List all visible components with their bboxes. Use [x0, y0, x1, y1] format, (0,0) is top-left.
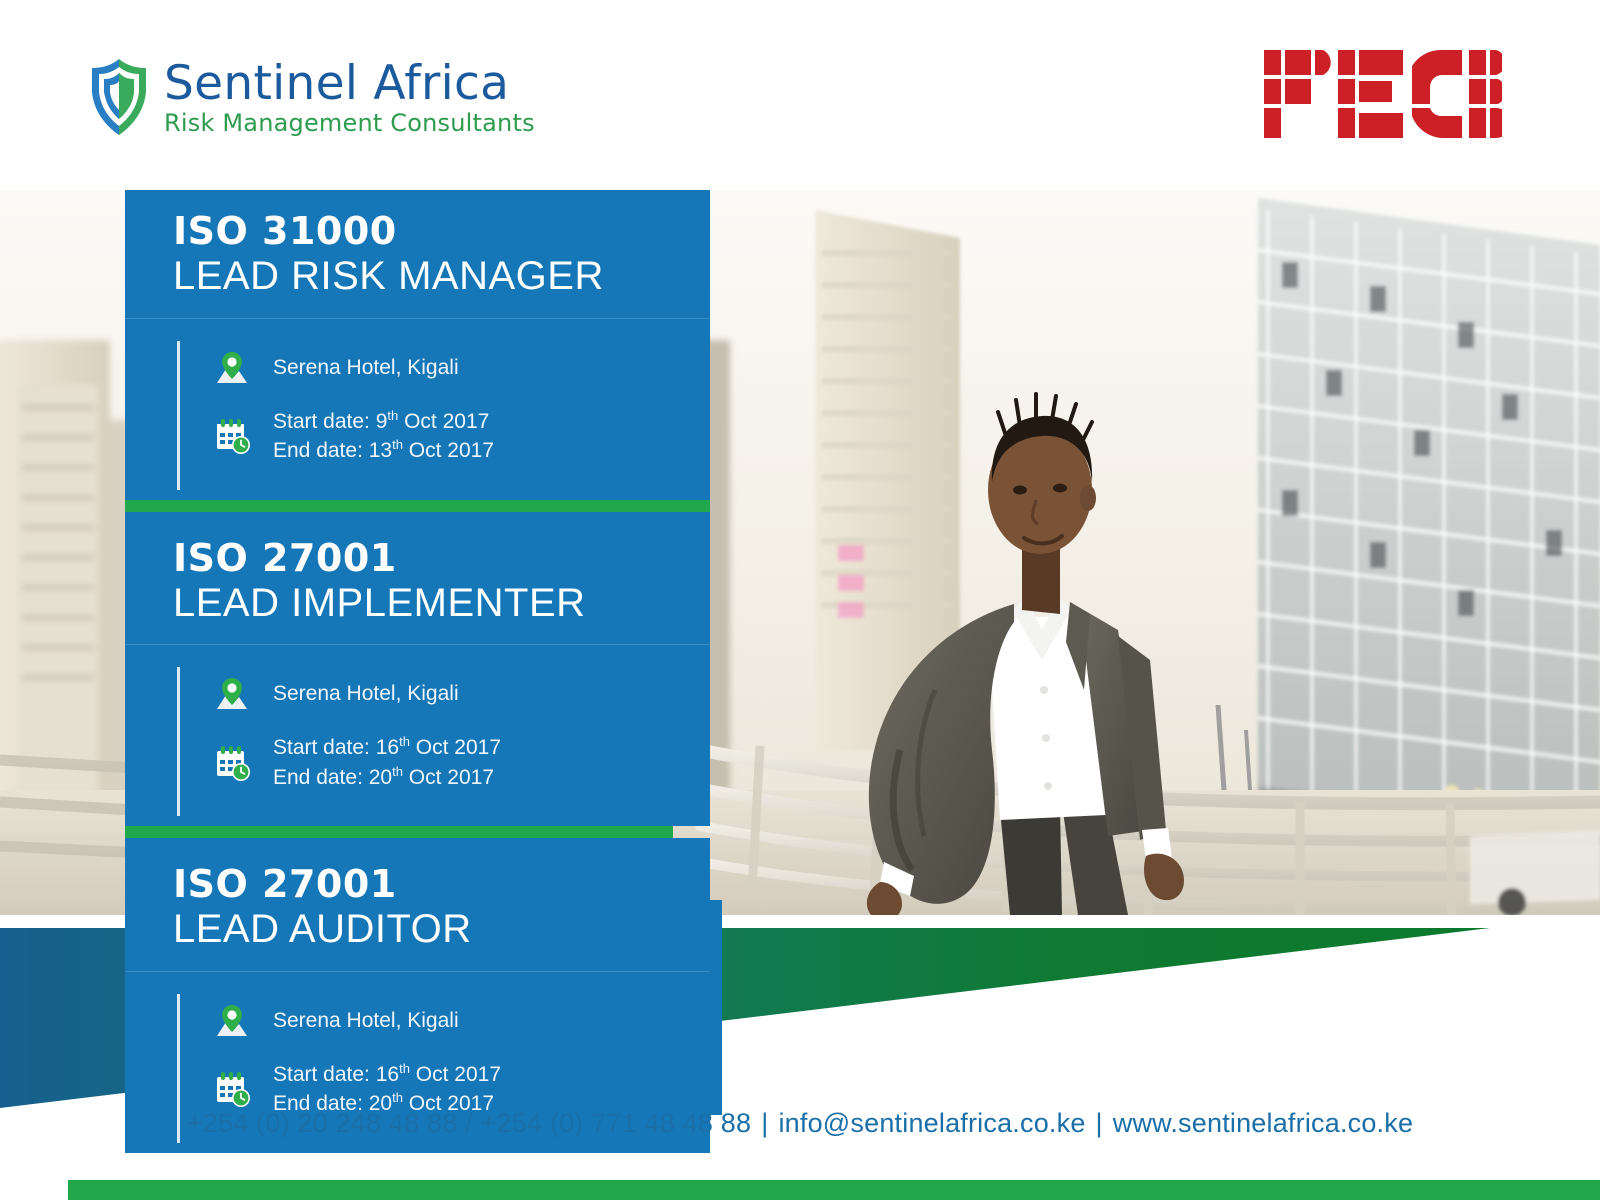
- start-date-label: Start date:: [273, 410, 370, 433]
- course-dates-text: Start date: 9th Oct 2017 End date: 13th …: [273, 407, 494, 466]
- footer-phone-numbers[interactable]: +254 (0) 20 248 48 88 / +254 (0) 771 48 …: [187, 1108, 751, 1139]
- brand-name: Sentinel Africa: [164, 60, 535, 107]
- course-title: LEAD RISK MANAGER: [173, 254, 710, 299]
- footer-divider-1: |: [751, 1108, 778, 1139]
- sentinel-africa-logo: Sentinel Africa Risk Management Consulta…: [88, 58, 535, 136]
- end-date-label: End date:: [273, 766, 363, 789]
- course-card[interactable]: ISO 27001 LEAD IMPLEMENTER Serena Hotel,…: [125, 512, 710, 827]
- footer-contact-bar: +254 (0) 20 248 48 88 / +254 (0) 771 48 …: [0, 1108, 1600, 1139]
- course-location-text: Serena Hotel, Kigali: [273, 354, 459, 382]
- accent-rule: [177, 341, 180, 490]
- calendar-clock-icon: [213, 1070, 251, 1108]
- end-date-rest: Oct 2017: [403, 439, 494, 462]
- start-date-rest: Oct 2017: [410, 736, 501, 759]
- end-date-day: 13: [369, 439, 392, 462]
- start-date-ordinal: th: [399, 1061, 410, 1076]
- footer-email[interactable]: info@sentinelafrica.co.ke: [778, 1108, 1085, 1139]
- course-dates-row: Start date: 16th Oct 2017 End date: 20th…: [125, 733, 710, 792]
- course-card-header: ISO 27001 LEAD IMPLEMENTER: [125, 512, 710, 646]
- map-pin-icon: [213, 349, 251, 387]
- end-date-ordinal: th: [392, 1090, 403, 1105]
- course-location-text: Serena Hotel, Kigali: [273, 680, 459, 708]
- shield-logo-icon: [88, 58, 150, 136]
- course-dates-row: Start date: 9th Oct 2017 End date: 13th …: [125, 407, 710, 466]
- end-date-label: End date:: [273, 439, 363, 462]
- course-title: LEAD IMPLEMENTER: [173, 581, 710, 626]
- course-standard-code: ISO 31000: [173, 211, 710, 252]
- course-standard-code: ISO 27001: [173, 864, 710, 905]
- calendar-clock-icon: [213, 744, 251, 782]
- start-date-label: Start date:: [273, 1063, 370, 1086]
- bottom-green-bar: [68, 1180, 1600, 1200]
- start-date-rest: Oct 2017: [398, 410, 489, 433]
- start-date-day: 9: [376, 410, 388, 433]
- course-cards-list: ISO 31000 LEAD RISK MANAGER Serena Hotel…: [125, 185, 710, 1153]
- card-separator-green: [125, 826, 673, 838]
- footer-website[interactable]: www.sentinelafrica.co.ke: [1113, 1108, 1413, 1139]
- course-location-row: Serena Hotel, Kigali: [125, 675, 710, 713]
- course-location-row: Serena Hotel, Kigali: [125, 1002, 710, 1040]
- calendar-clock-icon: [213, 417, 251, 455]
- start-date-ordinal: th: [399, 734, 410, 749]
- course-title: LEAD AUDITOR: [173, 907, 710, 952]
- course-card[interactable]: ISO 31000 LEAD RISK MANAGER Serena Hotel…: [125, 185, 710, 500]
- course-dates-text: Start date: 16th Oct 2017 End date: 20th…: [273, 733, 501, 792]
- course-card-header: ISO 31000 LEAD RISK MANAGER: [125, 185, 710, 319]
- course-card-body: Serena Hotel, Kigali: [125, 319, 710, 500]
- map-pin-icon: [213, 675, 251, 713]
- pecb-logo-icon: [1262, 46, 1502, 142]
- brand-tagline: Risk Management Consultants: [164, 111, 535, 135]
- end-date-rest: Oct 2017: [403, 766, 494, 789]
- course-location-row: Serena Hotel, Kigali: [125, 349, 710, 387]
- course-card-header: ISO 27001 LEAD AUDITOR: [125, 838, 710, 972]
- card-separator-green: [125, 500, 710, 512]
- map-pin-icon: [213, 1002, 251, 1040]
- course-location-text: Serena Hotel, Kigali: [273, 1007, 459, 1035]
- end-date-ordinal: th: [392, 764, 403, 779]
- start-date-ordinal: th: [387, 408, 398, 423]
- accent-rule: [177, 667, 180, 816]
- page-header: Sentinel Africa Risk Management Consulta…: [0, 0, 1600, 190]
- course-card[interactable]: ISO 27001 LEAD AUDITOR Serena Hotel, Kig…: [125, 838, 710, 1153]
- start-date-rest: Oct 2017: [410, 1063, 501, 1086]
- footer-divider-2: |: [1086, 1108, 1113, 1139]
- start-date-day: 16: [376, 1063, 399, 1086]
- course-card-body: Serena Hotel, Kigali: [125, 645, 710, 826]
- end-date-ordinal: th: [392, 437, 403, 452]
- course-standard-code: ISO 27001: [173, 538, 710, 579]
- start-date-day: 16: [376, 736, 399, 759]
- start-date-label: Start date:: [273, 736, 370, 759]
- end-date-day: 20: [369, 766, 392, 789]
